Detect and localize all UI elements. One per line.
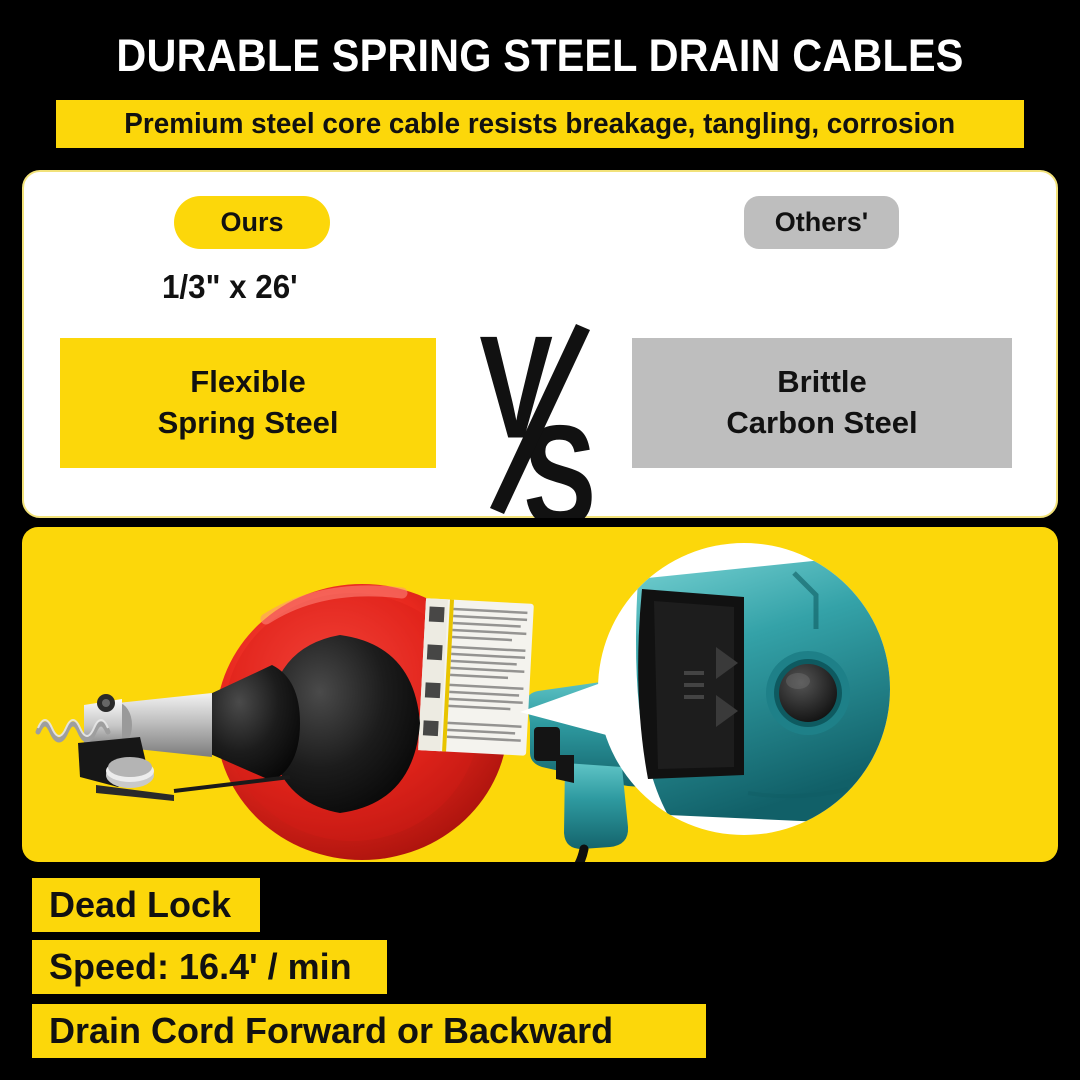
page-title: DURABLE SPRING STEEL DRAIN CABLES: [43, 30, 1037, 82]
others-material-line1: Brittle: [777, 362, 867, 403]
subtitle-banner: Premium steel core cable resists breakag…: [56, 100, 1024, 148]
ours-material-line2: Spring Steel: [158, 403, 339, 444]
versus-icon: V S: [472, 318, 604, 518]
others-material-box: Brittle Carbon Steel: [632, 338, 1012, 468]
subtitle-text: Premium steel core cable resists breakag…: [125, 108, 956, 141]
feature-direction: Drain Cord Forward or Backward: [32, 1004, 706, 1058]
ours-material-box: Flexible Spring Steel: [60, 338, 436, 468]
spec-size-label: 1/3" x 26': [162, 268, 298, 306]
badge-others: Others': [744, 196, 899, 249]
badge-ours: Ours: [174, 196, 330, 249]
others-material-line2: Carbon Steel: [726, 403, 917, 444]
ours-material-line1: Flexible: [190, 362, 305, 403]
switch-closeup-callout: [598, 543, 890, 835]
feature-speed: Speed: 16.4' / min: [32, 940, 387, 994]
feature-dead-lock: Dead Lock: [32, 878, 260, 932]
